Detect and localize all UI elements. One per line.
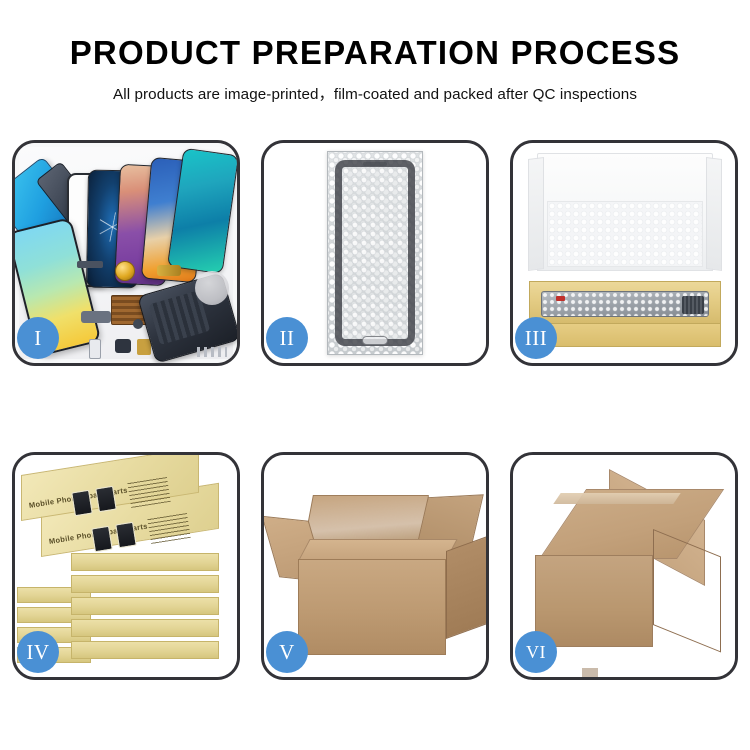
step-badge-1: I bbox=[17, 317, 59, 359]
sealed-carton-right-panel-icon bbox=[653, 529, 721, 652]
home-button-icon bbox=[362, 336, 388, 345]
foam-padding-icon bbox=[547, 201, 703, 267]
carton-top-edge-icon bbox=[298, 539, 458, 561]
sealed-carton-front-panel-icon bbox=[535, 555, 653, 647]
gold-coil-icon bbox=[115, 261, 135, 281]
bubble-wrap-icon bbox=[327, 151, 423, 355]
speaker-module-icon bbox=[137, 339, 151, 355]
process-steps-grid: I II bbox=[12, 140, 738, 680]
red-label-icon bbox=[556, 296, 565, 301]
earpiece-speaker-icon bbox=[363, 162, 387, 166]
stacked-box-icon-b4 bbox=[71, 619, 219, 637]
page-header: PRODUCT PREPARATION PROCESS All products… bbox=[0, 0, 750, 104]
step-badge-2: II bbox=[266, 317, 308, 359]
box-phone-image-icon-1b bbox=[95, 486, 117, 513]
flex-cable-icon-3 bbox=[81, 311, 111, 323]
flex-cable-icon-2 bbox=[157, 265, 181, 276]
process-step-panel-5: V bbox=[261, 452, 489, 680]
battery-icon bbox=[89, 339, 101, 359]
phone-screen-bezel-icon bbox=[335, 160, 415, 346]
camera-module-icon bbox=[115, 339, 131, 353]
page-title: PRODUCT PREPARATION PROCESS bbox=[0, 34, 750, 72]
step-badge-4: IV bbox=[17, 631, 59, 673]
process-step-panel-1: I bbox=[12, 140, 240, 366]
carton-tab-icon-1 bbox=[582, 668, 598, 677]
button-component-icon bbox=[133, 319, 143, 329]
flex-cable-icon-1 bbox=[77, 261, 103, 268]
process-step-panel-6: VI bbox=[510, 452, 738, 680]
step-badge-3: III bbox=[515, 317, 557, 359]
stacked-box-icon-b2 bbox=[71, 575, 219, 593]
box-tray-front-icon bbox=[529, 323, 721, 347]
stacked-box-icon-b5 bbox=[71, 641, 219, 659]
step-badge-6: VI bbox=[515, 631, 557, 673]
process-step-panel-4: Mobile Phone Spare Parts Mobile Phone Sp… bbox=[12, 452, 240, 680]
page-subtitle: All products are image-printed，film-coat… bbox=[0, 82, 750, 104]
box-phone-image-icon-2a bbox=[91, 526, 113, 553]
box-spec-lines-icon-2 bbox=[147, 512, 191, 544]
screws-icon bbox=[197, 347, 227, 357]
carton-side-panel-icon bbox=[446, 535, 486, 639]
step-badge-5: V bbox=[266, 631, 308, 673]
repair-tool-icon bbox=[195, 271, 229, 305]
box-phone-image-icon-2b bbox=[115, 522, 137, 549]
stacked-box-icon-b1 bbox=[71, 553, 219, 571]
stacked-box-icon-b3 bbox=[71, 597, 219, 615]
box-phone-image-icon-1a bbox=[71, 490, 93, 517]
product-preparation-process-page: PRODUCT PREPARATION PROCESS All products… bbox=[0, 0, 750, 750]
process-step-panel-2: II bbox=[261, 140, 489, 366]
carton-front-panel-icon bbox=[298, 559, 446, 655]
process-step-panel-3: III bbox=[510, 140, 738, 366]
wrapped-screen-icon bbox=[541, 291, 709, 317]
packing-tape-icon bbox=[553, 493, 680, 504]
